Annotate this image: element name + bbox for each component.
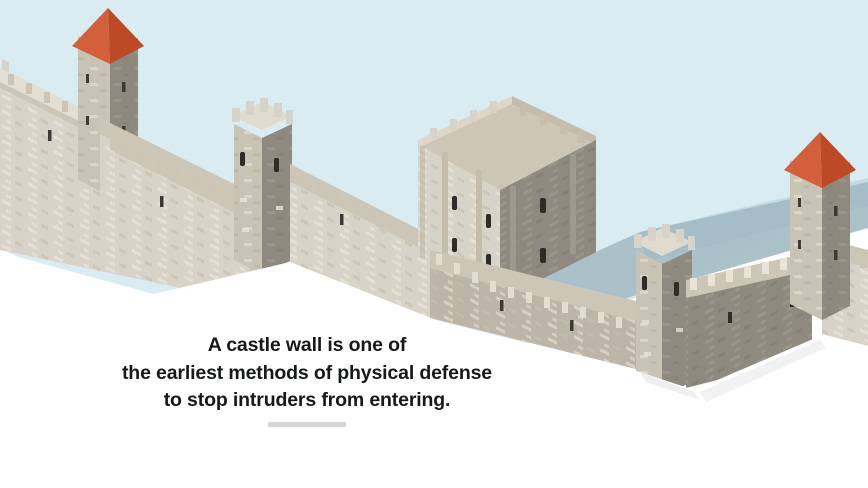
illustration-stage: A castle wall is one of the earliest met…: [0, 0, 868, 488]
caption-line-3: to stop intruders from entering.: [0, 387, 614, 415]
crenellated-tower-left: [232, 98, 293, 274]
caption-line-1: A castle wall is one of: [0, 332, 614, 360]
caption-text: A castle wall is one of the earliest met…: [0, 332, 614, 415]
caption-divider: [268, 422, 346, 427]
tower-crown: [232, 98, 293, 130]
caption-line-2: the earliest methods of physical defense: [0, 360, 614, 388]
roof-tower-far-right: [784, 132, 856, 320]
